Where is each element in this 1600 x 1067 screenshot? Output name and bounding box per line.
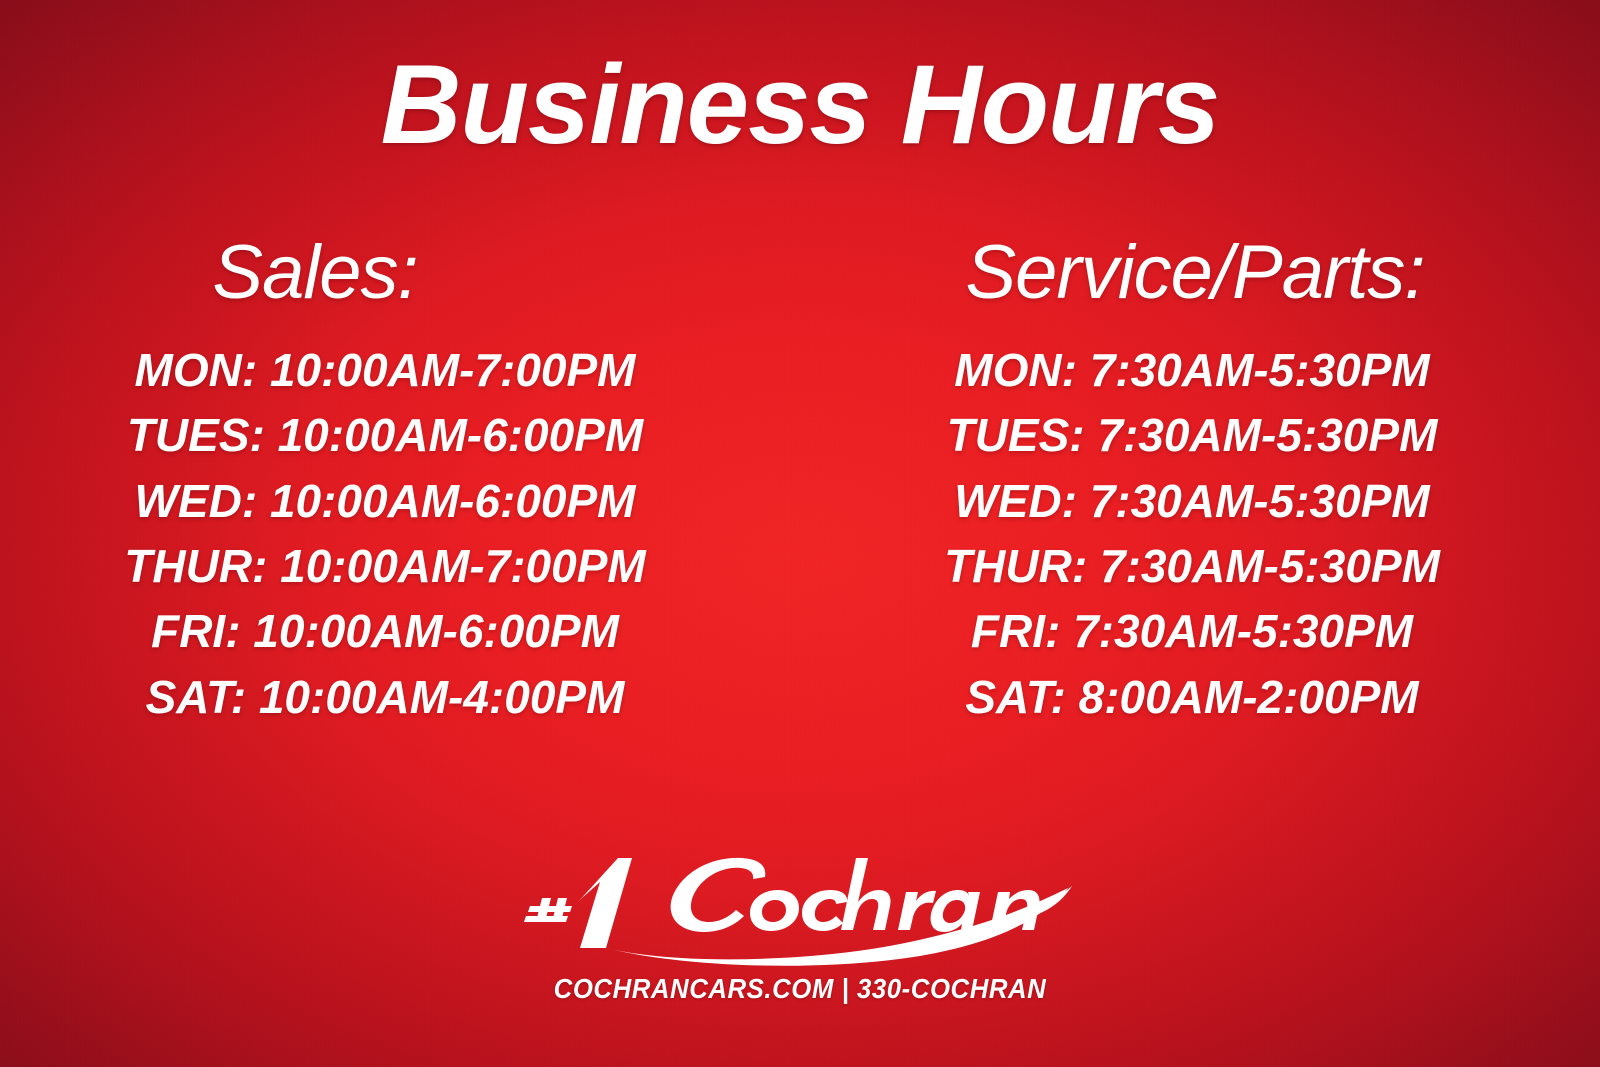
cochran-swoosh-icon [520, 836, 1080, 966]
hours-row: TUES: 10:00AM-6:00PM [0, 403, 800, 468]
sales-column-heading: Sales: [0, 232, 800, 314]
business-hours-poster: Business Hours Sales: MON: 10:00AM-7:00P… [0, 0, 1600, 1067]
service-parts-hours-list: MON: 7:30AM-5:30PM TUES: 7:30AM-5:30PM W… [800, 338, 1600, 730]
hours-row: MON: 7:30AM-5:30PM [800, 338, 1600, 403]
hours-row: WED: 7:30AM-5:30PM [800, 469, 1600, 534]
hours-row: FRI: 7:30AM-5:30PM [800, 599, 1600, 664]
page-title: Business Hours [0, 46, 1600, 164]
footer-contact-line: COCHRANCARS.COM | 330-COCHRAN [64, 973, 1536, 1005]
hours-row: SAT: 8:00AM-2:00PM [800, 665, 1600, 730]
hours-row: SAT: 10:00AM-4:00PM [0, 665, 800, 730]
hours-row: FRI: 10:00AM-6:00PM [0, 599, 800, 664]
service-parts-column: Service/Parts: MON: 7:30AM-5:30PM TUES: … [800, 232, 1600, 730]
hours-row: MON: 10:00AM-7:00PM [0, 338, 800, 403]
hours-row: THUR: 7:30AM-5:30PM [800, 534, 1600, 599]
hours-columns: Sales: MON: 10:00AM-7:00PM TUES: 10:00AM… [0, 232, 1600, 730]
hours-row: WED: 10:00AM-6:00PM [0, 469, 800, 534]
hours-row: TUES: 7:30AM-5:30PM [800, 403, 1600, 468]
brand-logo-block: COCHRANCARS.COM | 330-COCHRAN [0, 836, 1600, 1005]
hours-row: THUR: 10:00AM-7:00PM [0, 534, 800, 599]
sales-column: Sales: MON: 10:00AM-7:00PM TUES: 10:00AM… [0, 232, 800, 730]
cochran-logo [520, 836, 1080, 966]
sales-hours-list: MON: 10:00AM-7:00PM TUES: 10:00AM-6:00PM… [0, 338, 800, 730]
service-parts-column-heading: Service/Parts: [800, 232, 1600, 314]
